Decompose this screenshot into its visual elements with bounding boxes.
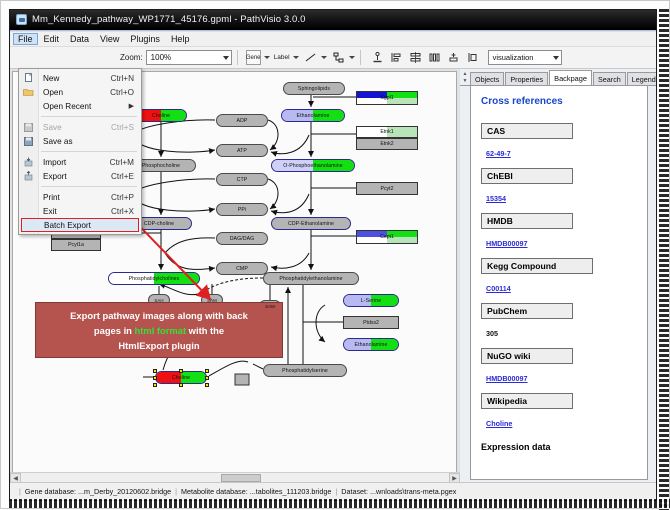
- menu-item-print[interactable]: Print Ctrl+P: [19, 190, 141, 204]
- status-dataset-value: ...wnloads\trans-meta.pgex: [370, 487, 456, 496]
- node-label: SAH: [154, 298, 163, 303]
- menu-separator-2: [41, 151, 137, 152]
- xref-header-nugo-wiki: NuGO wiki: [481, 348, 573, 364]
- gene-label: Sgpl1: [380, 95, 393, 101]
- save-as-icon: [23, 136, 34, 146]
- menu-item-shortcut: Ctrl+S: [111, 123, 134, 132]
- gene-tool-button[interactable]: Gene: [246, 50, 261, 65]
- xref-header-cas: CAS: [481, 123, 573, 139]
- menu-separator-1: [41, 116, 137, 117]
- xref-header-pubchem: PubChem: [481, 303, 573, 319]
- menu-item-save[interactable]: Save Ctrl+S: [19, 120, 141, 134]
- node-label: Sphingolipids: [298, 86, 330, 92]
- menu-view[interactable]: View: [95, 33, 124, 45]
- tab-objects[interactable]: Objects: [470, 72, 504, 85]
- menu-item-import[interactable]: Import Ctrl+M: [19, 155, 141, 169]
- tab-search[interactable]: Search: [593, 72, 626, 85]
- toolbar[interactable]: Zoom: 100% Gene Label: [10, 47, 656, 69]
- status-divider-2: |: [335, 487, 337, 496]
- node-ppi[interactable]: PPi: [216, 203, 268, 216]
- menu-item-new[interactable]: New Ctrl+N: [19, 71, 141, 85]
- node-adp[interactable]: ADP: [216, 114, 268, 127]
- window-shadow-bottom: [9, 499, 670, 508]
- status-bar: | Gene database: ...m_Derby_20120602.bri…: [10, 482, 657, 500]
- status-divider-1: |: [175, 487, 177, 496]
- node-dag[interactable]: DAG/DAG: [216, 232, 268, 245]
- gene-label: Pcyt2: [381, 186, 394, 192]
- import-icon: [23, 157, 34, 167]
- node-label: Phosphocholine: [142, 163, 180, 169]
- menu-item-open[interactable]: Open Ctrl+O: [19, 85, 141, 99]
- gene-sgpl1[interactable]: Sgpl1: [356, 91, 418, 105]
- callout-line-2: pages in html format with the: [94, 323, 224, 338]
- zoom-combobox[interactable]: 100%: [146, 50, 232, 65]
- menu-item-shortcut: Ctrl+N: [111, 74, 134, 83]
- tab-scroll-down-icon[interactable]: ▼: [463, 78, 468, 84]
- gene-dropdown-icon[interactable]: [264, 56, 270, 59]
- node-l-serine[interactable]: L-Serine: [343, 294, 399, 307]
- xref-link-chebi[interactable]: 15354: [486, 194, 506, 203]
- menu-file[interactable]: File: [13, 33, 38, 45]
- callout-line-2-post: with the: [186, 325, 224, 336]
- node-label: Ethanolamine: [355, 342, 388, 348]
- menu-item-shortcut: Ctrl+X: [111, 207, 134, 216]
- status-dataset-label: Dataset:: [341, 487, 368, 496]
- selection-handle-se[interactable]: [205, 383, 209, 387]
- node-label: Phosphatidylserine: [282, 368, 328, 374]
- backpage-content: Cross references CAS 62-49-7 ChEBI 15354…: [470, 86, 648, 480]
- node-label: DAG/DAG: [230, 236, 255, 242]
- distribute-icon[interactable]: [427, 50, 442, 65]
- node-ctp[interactable]: CTP: [216, 173, 268, 186]
- annotation-callout: Export pathway images along with back pa…: [35, 302, 283, 358]
- menu-item-label: Import: [43, 158, 66, 167]
- label-dropdown-icon[interactable]: [293, 56, 299, 59]
- gene-ptdss2[interactable]: Ptdss2: [343, 316, 399, 329]
- gene-label: Etnk2: [380, 141, 393, 147]
- window-shadow-right: [659, 9, 669, 510]
- node-label: Phosphatidylcholines: [129, 276, 180, 282]
- node-ethanolamine-low[interactable]: Ethanolamine: [343, 338, 399, 351]
- folder-open-icon: [23, 87, 34, 97]
- submenu-arrow-icon: ▶: [129, 102, 134, 110]
- callout-highlight: html format: [135, 325, 187, 336]
- gene-cept1[interactable]: Cept1: [356, 230, 418, 244]
- visualization-value: visualization: [493, 53, 534, 62]
- selection-handle-s[interactable]: [179, 383, 183, 387]
- callout-line-3: HtmlExport plugin: [118, 338, 199, 353]
- menu-item-shortcut: Ctrl+O: [110, 88, 134, 97]
- status-gene-database-value: ...m_Derby_20120602.bridge: [78, 487, 171, 496]
- node-cdp-ethanolamine[interactable]: CDP-Ethanolamine: [271, 217, 351, 230]
- node-label: CDP-Ethanolamine: [288, 221, 334, 227]
- menu-item-shortcut: Ctrl+P: [111, 193, 134, 202]
- pathvisio-icon: [16, 14, 27, 25]
- export-icon: [23, 171, 34, 181]
- expression-data-title: Expression data: [481, 442, 639, 452]
- line-dropdown-icon[interactable]: [321, 56, 327, 59]
- node-sphingolipids[interactable]: Sphingolipids: [283, 82, 345, 95]
- status-metabolite-database-label: Metabolite database:: [181, 487, 248, 496]
- status-divider-0: |: [19, 487, 21, 496]
- node-label: Choline: [172, 375, 190, 381]
- panel-tabs[interactable]: Objects Properties Backpage Search Legen…: [460, 71, 656, 86]
- zoom-label: Zoom:: [120, 53, 143, 62]
- side-panel: ▲ ▼ Objects Properties Backpage Search L…: [460, 69, 656, 500]
- node-label: L-Serine: [361, 298, 381, 304]
- menu-item-label: Exit: [43, 207, 57, 216]
- node-atp[interactable]: ATP: [216, 144, 268, 157]
- menu-item-save-as[interactable]: Save as: [19, 134, 141, 148]
- menu-help[interactable]: Help: [166, 33, 195, 45]
- anchor-icon[interactable]: [370, 50, 385, 65]
- menu-bar[interactable]: File Edit Data View Plugins Help: [10, 32, 656, 47]
- xref-header-hmdb: HMDB: [481, 213, 573, 229]
- gene-etnk2[interactable]: Etnk2: [356, 138, 418, 150]
- menu-data[interactable]: Data: [65, 33, 94, 45]
- save-disk-icon: [23, 122, 34, 132]
- status-metabolite-database-value: ...tabolites_111203.bridge: [250, 487, 332, 496]
- menu-plugins[interactable]: Plugins: [125, 33, 165, 45]
- node-label: Phosphatidylethanolamine: [279, 276, 342, 282]
- align-center-icon[interactable]: [408, 50, 423, 65]
- node-label: Ethanolamine: [297, 113, 330, 119]
- tab-legend[interactable]: Legend: [627, 72, 657, 85]
- menu-separator-3: [41, 186, 137, 187]
- gene-label: Pcyt1a: [68, 242, 84, 248]
- gene-label: Cept1: [380, 234, 394, 240]
- node-cmp[interactable]: CMP: [216, 262, 268, 275]
- label-tool-button[interactable]: Label: [274, 54, 290, 61]
- selection-handle-e[interactable]: [205, 376, 209, 380]
- xref-header-kegg-compound: Kegg Compound: [481, 258, 593, 274]
- selection-handle-w[interactable]: [153, 376, 157, 380]
- xref-link-hmdb[interactable]: HMDB00097: [486, 239, 528, 248]
- menu-item-label: Open: [43, 88, 63, 97]
- zoom-value: 100%: [151, 53, 171, 62]
- menu-edit[interactable]: Edit: [39, 33, 65, 45]
- menu-item-shortcut: Ctrl+M: [110, 158, 134, 167]
- gene-etnk1[interactable]: Etnk1: [356, 126, 418, 138]
- tab-properties[interactable]: Properties: [505, 72, 548, 85]
- stack-icon[interactable]: [446, 50, 461, 65]
- status-gene-database-label: Gene database:: [25, 487, 76, 496]
- pathvisio-window: Mm_Kennedy_pathway_WP1771_45176.gpml - P…: [9, 9, 657, 501]
- gene-pcyt2[interactable]: Pcyt2: [356, 182, 418, 195]
- file-menu-popup[interactable]: New Ctrl+N Open Ctrl+O Open Recent ▶ Sav…: [18, 68, 142, 235]
- menu-item-label: New: [43, 74, 59, 83]
- group-icon[interactable]: [465, 50, 480, 65]
- node-label: CDP-choline: [144, 221, 174, 227]
- gene-pcyt1a[interactable]: Pcyt1a: [51, 239, 101, 251]
- menu-item-shortcut: Ctrl+E: [111, 172, 134, 181]
- tab-scroll-arrows[interactable]: ▲ ▼: [462, 71, 468, 84]
- node-label: ADP: [237, 118, 248, 124]
- selection-handle-sw[interactable]: [153, 383, 157, 387]
- toolbar-separator: [237, 50, 238, 65]
- node-choline-top[interactable]: Choline: [135, 109, 187, 122]
- node-label: SAM: [265, 304, 275, 309]
- interaction-dropdown-icon[interactable]: [349, 56, 355, 59]
- gene-label: Ptdss2: [363, 320, 379, 326]
- node-ethanolamine-top[interactable]: Ethanolamine: [281, 109, 345, 122]
- chevron-down-icon: [223, 56, 229, 60]
- menu-item-exit[interactable]: Exit Ctrl+X: [19, 204, 141, 218]
- menu-item-label: Open Recent: [43, 102, 91, 111]
- callout-line-2-pre: pages in: [94, 325, 135, 336]
- node-label: Choline: [152, 113, 170, 119]
- node-label: PPi: [238, 207, 246, 213]
- interaction-icon[interactable]: [331, 50, 346, 65]
- tab-scroll-up-icon[interactable]: ▲: [463, 71, 468, 77]
- node-phosphatidylcholines[interactable]: Phosphatidylcholines: [108, 272, 200, 285]
- callout-line-1: Export pathway images along with back: [70, 308, 248, 323]
- title-bar: Mm_Kennedy_pathway_WP1771_45176.gpml - P…: [10, 10, 656, 30]
- xref-link-cas[interactable]: 62-49-7: [486, 149, 511, 158]
- node-phosphatidylserine[interactable]: Phosphatidylserine: [263, 364, 347, 377]
- cross-references-title: Cross references: [481, 96, 639, 107]
- node-label: ATP: [237, 148, 247, 154]
- menu-item-label: Export: [43, 172, 67, 181]
- xref-header-chebi: ChEBI: [481, 168, 573, 184]
- node-label: CTP: [237, 177, 248, 183]
- node-label: O-Phosphoethanolamine: [283, 163, 343, 169]
- gene-label: Etnk1: [380, 129, 393, 135]
- align-left-icon[interactable]: [389, 50, 404, 65]
- visualization-combobox[interactable]: visualization: [488, 50, 562, 65]
- menu-item-open-recent[interactable]: Open Recent ▶: [19, 99, 141, 113]
- selection-handle-nw[interactable]: [153, 369, 157, 373]
- xref-link-nugo-wiki[interactable]: HMDB00097: [486, 374, 528, 383]
- selection-handle-ne[interactable]: [205, 369, 209, 373]
- menu-item-label: Save as: [43, 137, 73, 146]
- menu-item-batch-export[interactable]: Batch Export: [21, 218, 139, 232]
- menu-item-export[interactable]: Export Ctrl+E: [19, 169, 141, 183]
- new-document-icon: [23, 73, 34, 83]
- toolbar-separator-2: [360, 50, 361, 65]
- visualization-chevron-down-icon: [553, 56, 559, 60]
- node-label: CMP: [236, 266, 248, 272]
- line-icon[interactable]: [303, 50, 318, 65]
- node-o-phosphoethanolamine[interactable]: O-Phosphoethanolamine: [271, 159, 355, 172]
- desktop-frame: Mm_Kennedy_pathway_WP1771_45176.gpml - P…: [0, 0, 670, 509]
- tab-backpage[interactable]: Backpage: [549, 70, 592, 85]
- xref-link-wikipedia[interactable]: Choline: [486, 419, 512, 428]
- window-title: Mm_Kennedy_pathway_WP1771_45176.gpml - P…: [32, 14, 306, 25]
- xref-link-kegg-compound[interactable]: C00114: [486, 284, 511, 293]
- xref-header-wikipedia: Wikipedia: [481, 393, 573, 409]
- menu-item-label: Save: [43, 123, 62, 132]
- node-phosphatidylethanolamine[interactable]: Phosphatidylethanolamine: [263, 272, 359, 285]
- scroll-thumb[interactable]: [221, 474, 261, 482]
- menu-item-label: Print: [43, 193, 60, 202]
- selection-handle-n[interactable]: [179, 369, 183, 373]
- xref-value-pubchem: 305: [486, 329, 498, 338]
- menu-item-label: Batch Export: [44, 221, 91, 230]
- node-label: SAM: [207, 298, 217, 303]
